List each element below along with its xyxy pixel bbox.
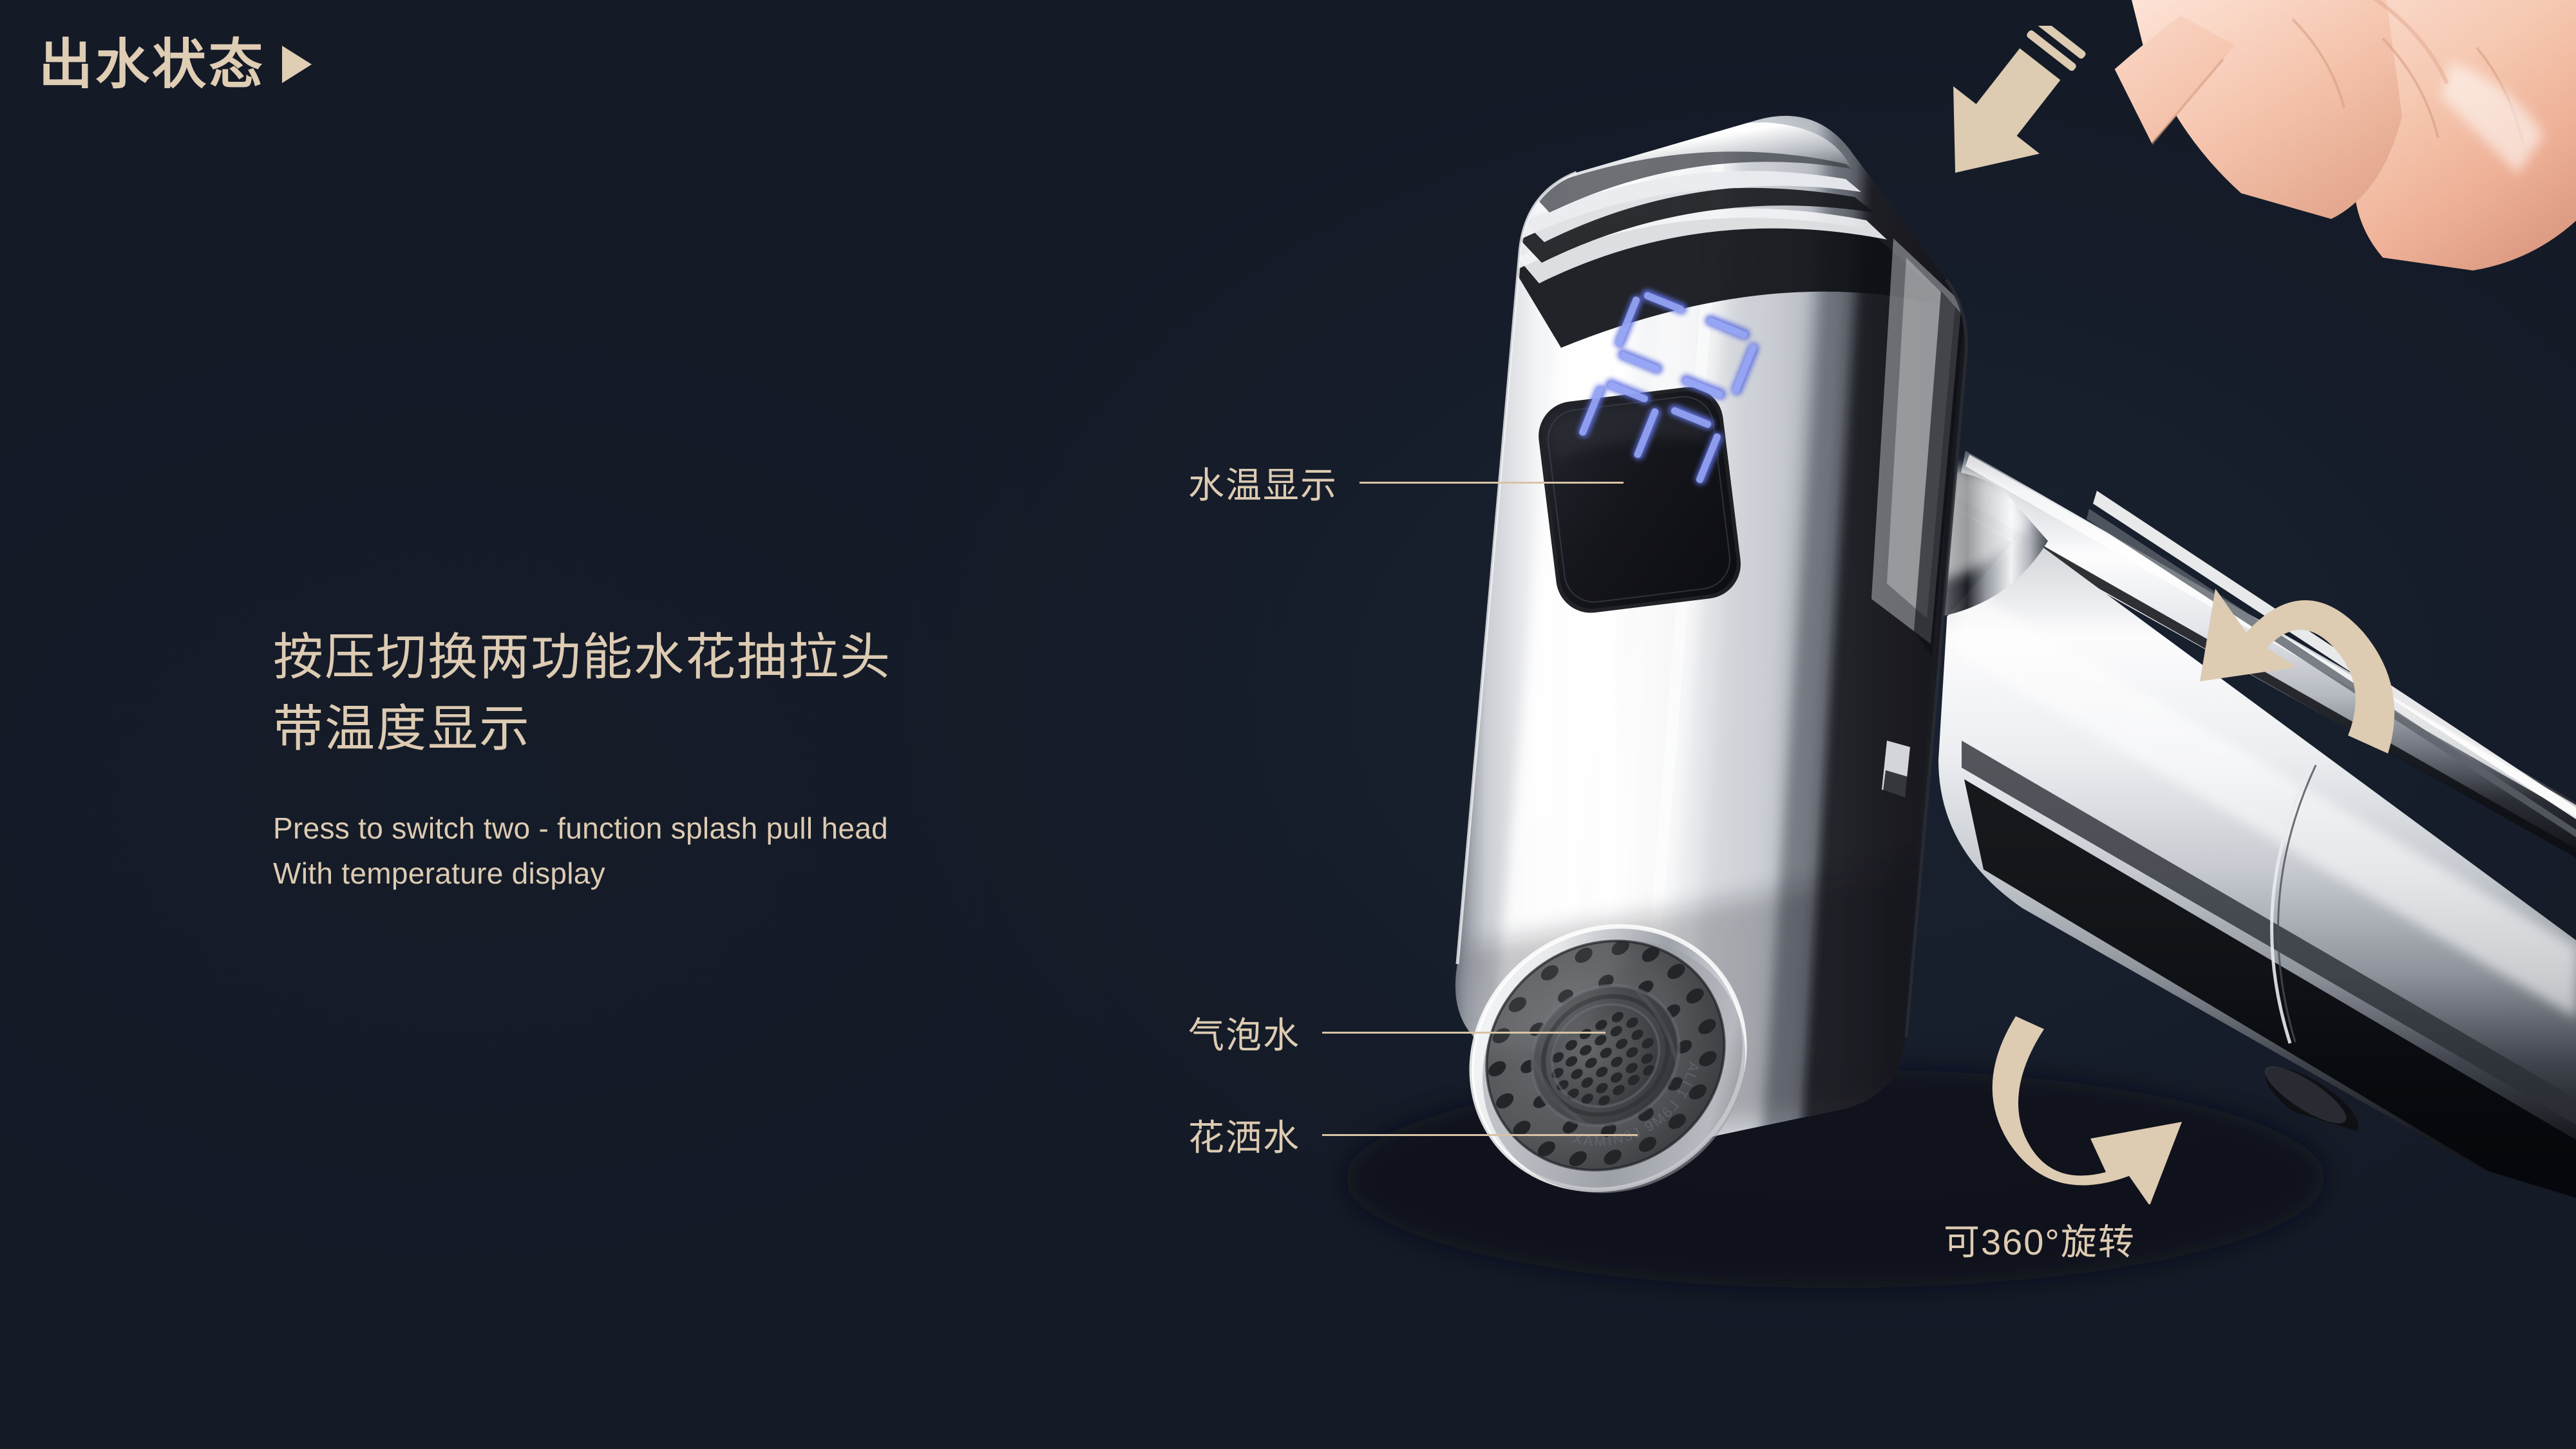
callout-label: 水温显示 [1188, 457, 1338, 509]
press-down-arrow-icon [1861, 26, 2196, 238]
headline-line-1: 按压切换两功能水花抽拉头 [273, 621, 1239, 693]
callout-leader-line [1322, 1032, 1605, 1034]
callout-water-temperature-display: 水温显示 [1188, 457, 1624, 509]
subheadline-block: Press to switch two - function splash pu… [273, 806, 1239, 896]
rotate-ccw-arrow-icon [2170, 560, 2428, 786]
callout-label: 花洒水 [1188, 1109, 1300, 1161]
callout-leader-line [1322, 1134, 1638, 1136]
callout-label: 气泡水 [1188, 1007, 1300, 1059]
faucet-joint [1864, 465, 2048, 618]
rotate-cw-arrow-icon [1977, 979, 2248, 1204]
callout-leader-line [1359, 482, 1624, 484]
subheadline-line-2: With temperature display [273, 851, 1239, 896]
callout-aerated-water: 气泡水 [1188, 1007, 1605, 1059]
faucet-head [1417, 109, 1977, 1159]
subheadline-line-1: Press to switch two - function splash pu… [273, 806, 1239, 851]
rotation-label: 可360°旋转 [1944, 1213, 2136, 1265]
temperature-display-screen [1535, 285, 1765, 616]
headline-line-2: 带温度显示 [273, 693, 1239, 764]
play-triangle-icon [282, 46, 312, 83]
slide-header: 出水状态 [39, 37, 312, 91]
headline-block: 按压切换两功能水花抽拉头 带温度显示 [273, 621, 1239, 764]
product-feature-slide: XAMIN3J 9M6⅃ 1⅂⅂∀ [0, 0, 2576, 1449]
page-title: 出水状态 [39, 37, 265, 91]
callout-shower-water: 花洒水 [1188, 1109, 1638, 1161]
